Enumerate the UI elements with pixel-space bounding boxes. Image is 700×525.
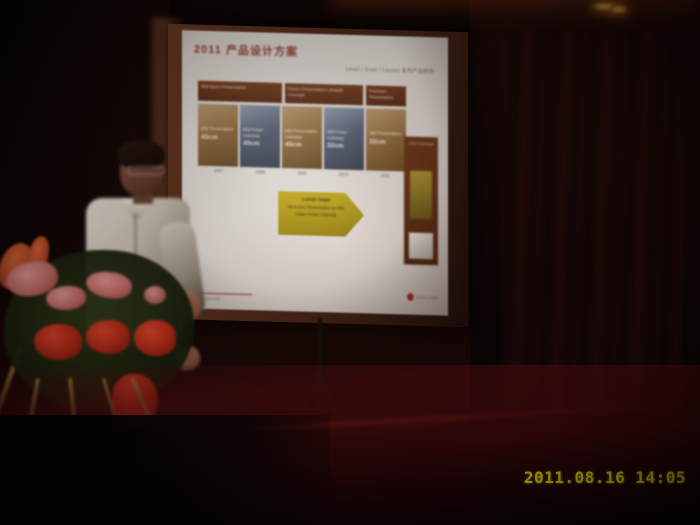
callout-body: Next Gen Presentation on Mid Class Power… (288, 204, 344, 217)
logo-text: ACCLAIM (416, 294, 438, 300)
presentation-slide: 2011 产品设计方案 Level / Cost / Layout 系列产品规划… (182, 30, 448, 315)
flower-bloom (134, 320, 176, 356)
presenter-hair (117, 140, 165, 168)
chart-header-cell: Green Presentation Lifestyle Concept (285, 83, 363, 105)
photograph: 2011 产品设计方案 Level / Cost / Layout 系列产品规划… (0, 0, 700, 525)
camera-timestamp: 2011.08.16 14:05 (524, 468, 686, 487)
column-label: Mid Presentation (201, 126, 233, 132)
product-thumbnail (409, 233, 433, 260)
flower-bloom (34, 324, 82, 360)
chart-column: Mid Presentation 32cm (366, 108, 406, 171)
axis-tick: 2011 (364, 172, 406, 178)
roadmap-chart: Mid-Sport Presentation Green Presentatio… (198, 81, 406, 179)
column-label: Mid Presentation (369, 130, 401, 136)
chart-column: Mid Presentation Gateway 45cm (282, 106, 322, 169)
ceiling-light-icon (612, 7, 626, 12)
axis-tick: 2010 (323, 171, 365, 177)
chart-header-row: Mid-Sport Presentation Green Presentatio… (198, 81, 406, 107)
side-panel-label: 2012 Concept (404, 136, 438, 150)
ceiling-glow (330, 0, 700, 30)
chart-header-cell: Premium Presentation (366, 85, 406, 106)
brand-mark-icon (407, 292, 414, 300)
axis-tick: 2008 (240, 169, 282, 175)
slide-logo: ACCLAIM (407, 292, 438, 301)
flower-bloom (86, 320, 130, 354)
stage-curtain (502, 30, 682, 410)
callout-arrow: Launch Target Next Gen Presentation on M… (278, 191, 364, 237)
side-panel-bar (410, 171, 432, 220)
chart-column: Mid Power Gateway 32cm (324, 107, 364, 170)
column-label: Mid Presentation Gateway (285, 128, 317, 139)
ceiling-light-icon (595, 4, 613, 9)
column-value: 32cm (369, 138, 403, 147)
chart-header-cell: Mid-Sport Presentation (198, 81, 282, 103)
column-value: 45cm (285, 141, 319, 150)
slide-subtitle: Level / Cost / Layout 系列产品规划 (346, 66, 434, 75)
flower-bud (144, 286, 166, 304)
slide-title: 2011 产品设计方案 (194, 41, 438, 64)
screen-surface: 2011 产品设计方案 Level / Cost / Layout 系列产品规划… (182, 30, 448, 315)
eyeglasses-icon (128, 166, 164, 175)
callout-title: Launch Target (284, 196, 348, 204)
chart-column: Mid Power Gateway 45cm (240, 105, 280, 168)
column-value: 32cm (327, 142, 361, 151)
axis-tick: 2009 (281, 170, 323, 176)
slide-side-panel: 2012 Concept (404, 136, 438, 265)
column-value: 45cm (243, 140, 277, 149)
chart-column-row: Mid Presentation 45cm Mid Power Gateway … (198, 104, 406, 172)
column-label: Mid Power Gateway (327, 129, 347, 140)
column-label: Mid Power Gateway (243, 127, 263, 138)
dark-foreground (0, 415, 330, 525)
